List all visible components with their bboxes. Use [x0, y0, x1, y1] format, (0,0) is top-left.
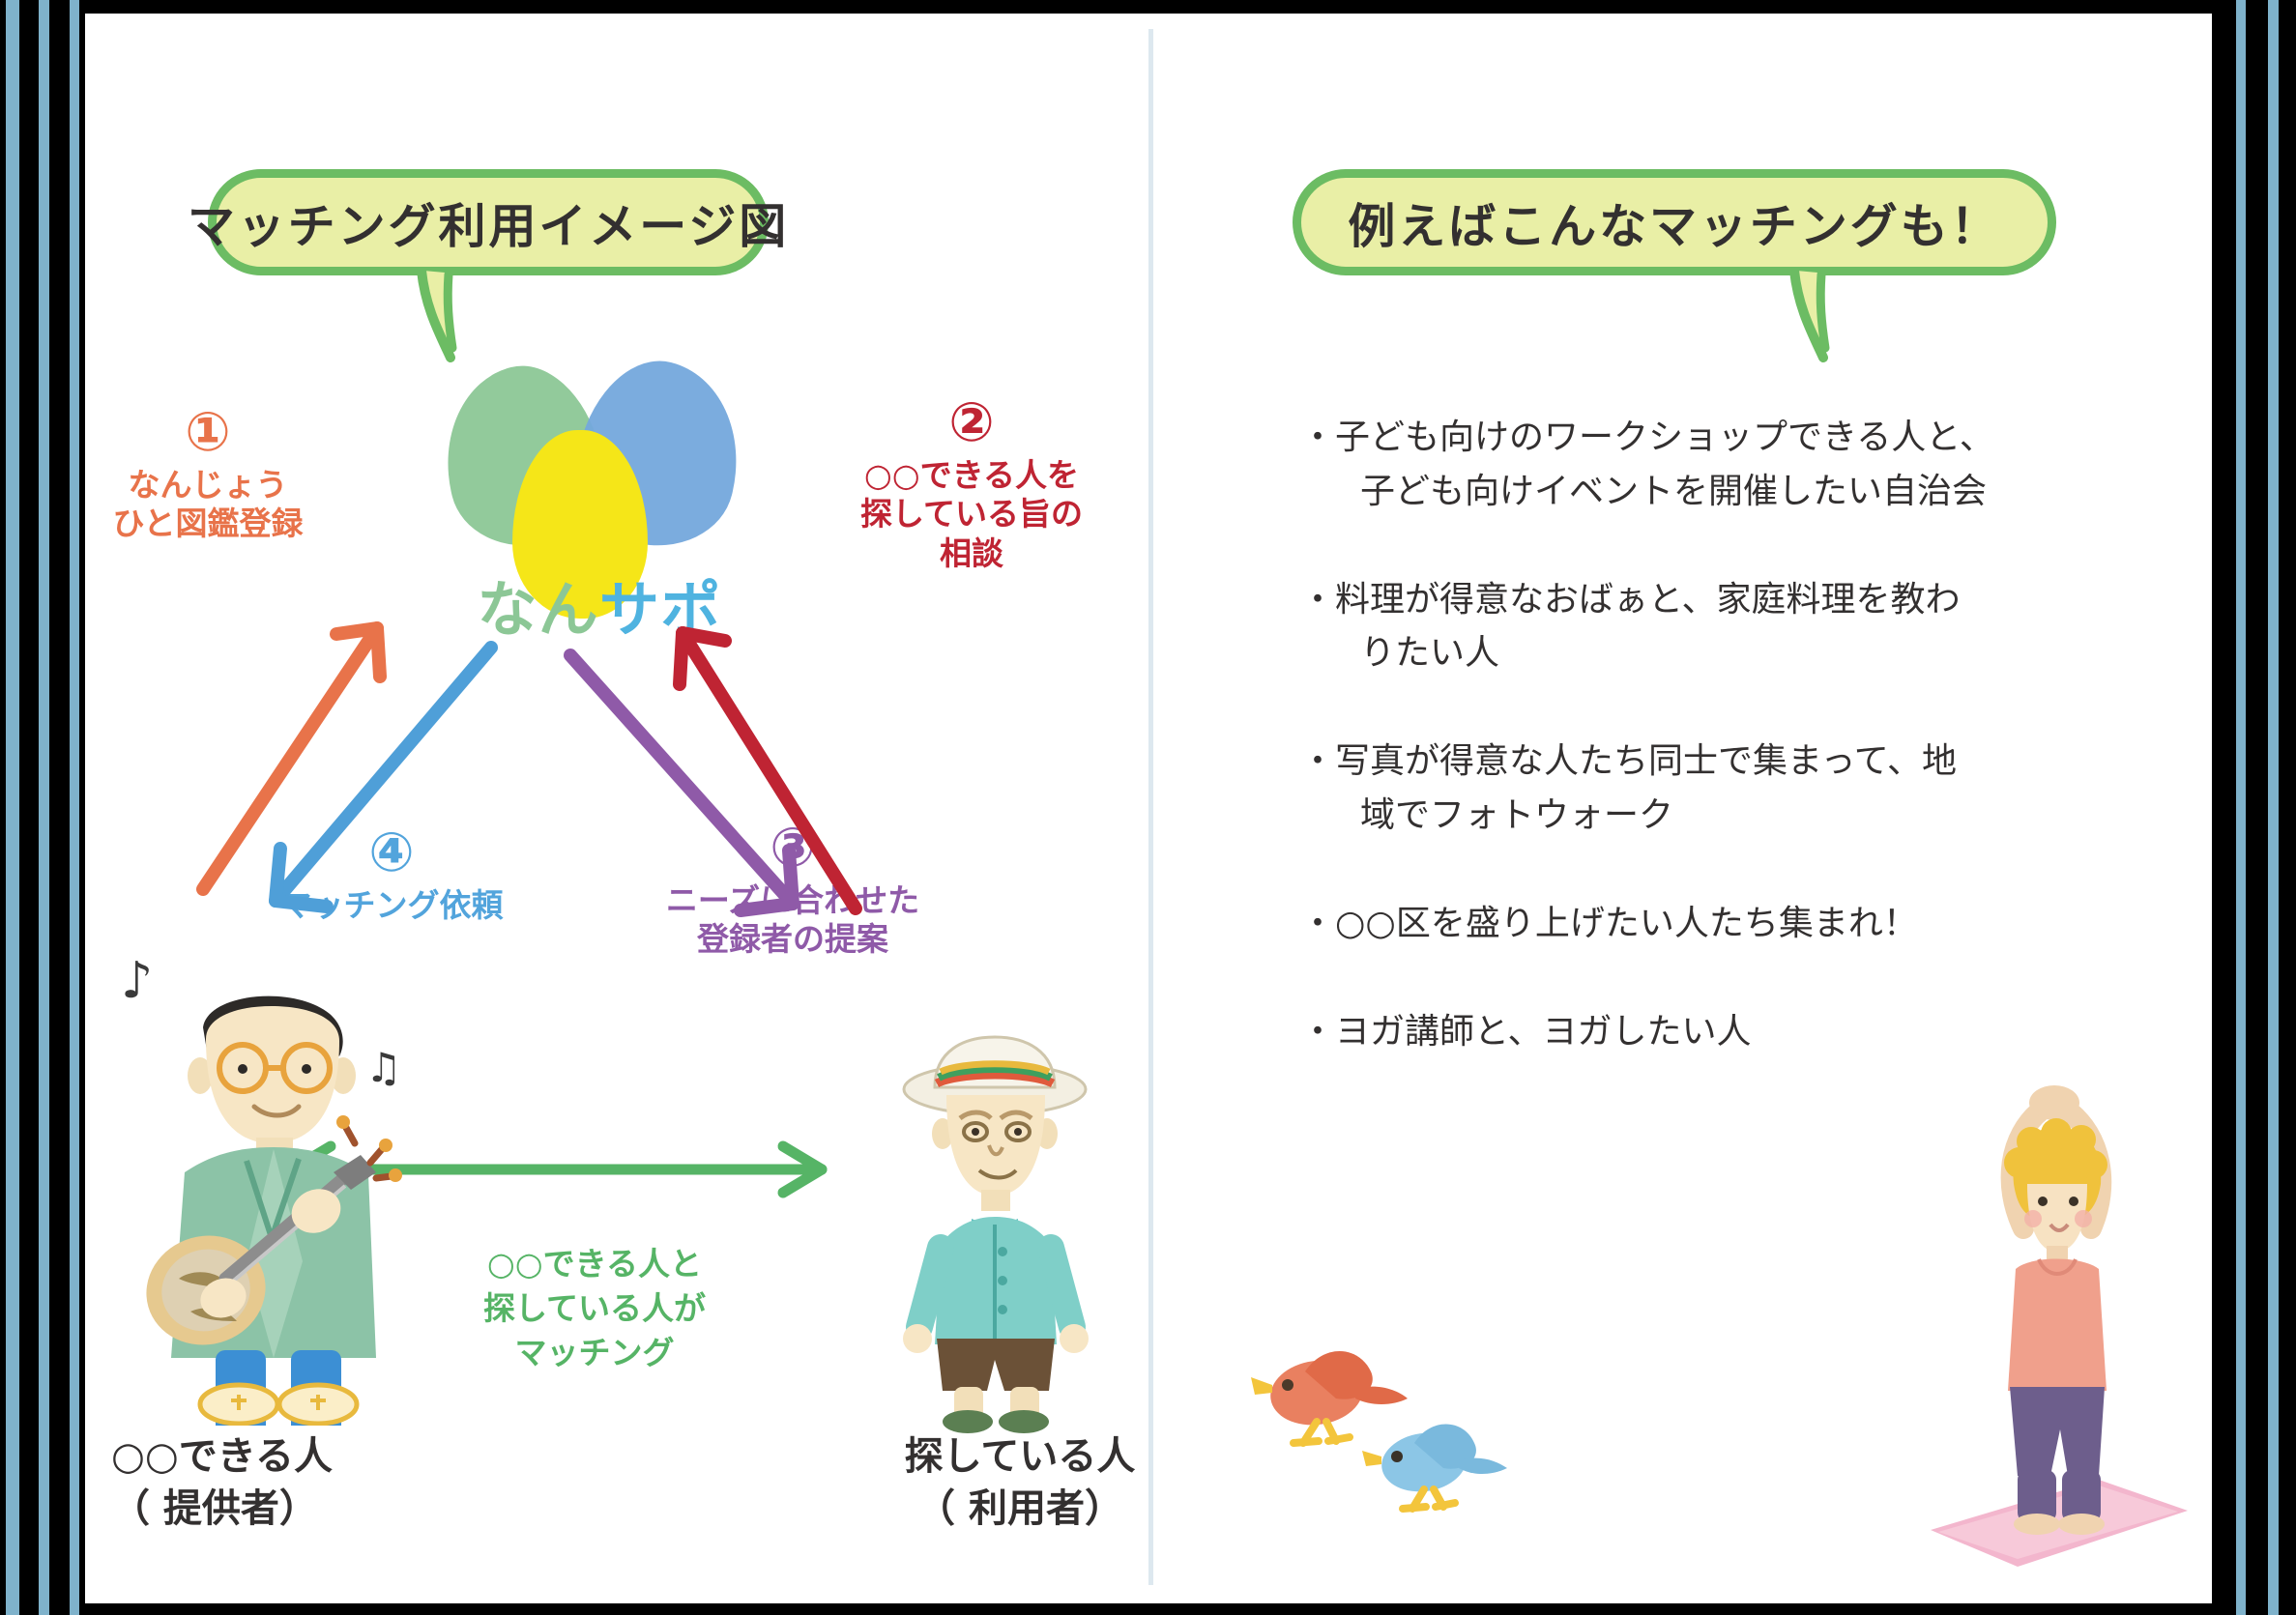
examples-list: ・子ども向けのワークショップできる人と、 子ども向けイベントを開催したい自治会 … — [1300, 411, 2064, 1112]
person-user-illustration — [875, 1029, 1117, 1435]
user-caption: 探している人 （ 利用者） — [860, 1430, 1179, 1535]
list-item: ・写真が得意な人たち同士で集まって、地 域でフォトウォーク — [1300, 735, 2064, 843]
list-item: ・○○区を盛り上げたい人たち集まれ！ — [1300, 897, 2064, 951]
user-name: 探している人 — [860, 1430, 1179, 1483]
person-provider-illustration — [102, 971, 450, 1426]
book-spread: マッチング利用イメージ図 なんサポ ① なんじょう ひと図鑑登録 ② ○○できる… — [0, 0, 2296, 1615]
arrow-step-3-icon — [570, 655, 793, 910]
bubble-tail-right — [1779, 269, 1895, 365]
list-item: ・子ども向けのワークショップできる人と、 子ども向けイベントを開催したい自治会 — [1300, 411, 2064, 519]
yoga-figure-illustration — [1909, 1039, 2199, 1580]
left-page-title: マッチング利用イメージ図 — [188, 188, 789, 257]
right-page-heading-bubble: 例えばこんなマッチングも！ — [1293, 169, 2056, 275]
provider-caption: ○○できる人 （ 提供者） — [111, 1430, 517, 1535]
user-role: （ 利用者） — [860, 1483, 1179, 1535]
matching-description: ○○できる人と 探している人が マッチング — [440, 1242, 749, 1376]
list-item: ・料理が得意なおばぁと、家庭料理を教わ りたい人 — [1300, 573, 2064, 681]
arrow-step-1-icon — [203, 628, 380, 889]
provider-role: （ 提供者） — [111, 1483, 517, 1535]
provider-name: ○○できる人 — [111, 1430, 517, 1483]
arrow-step-4-icon — [276, 648, 491, 907]
right-page-title: 例えばこんなマッチングも！ — [1348, 188, 2000, 257]
blue-bird-icon — [1358, 1406, 1523, 1522]
